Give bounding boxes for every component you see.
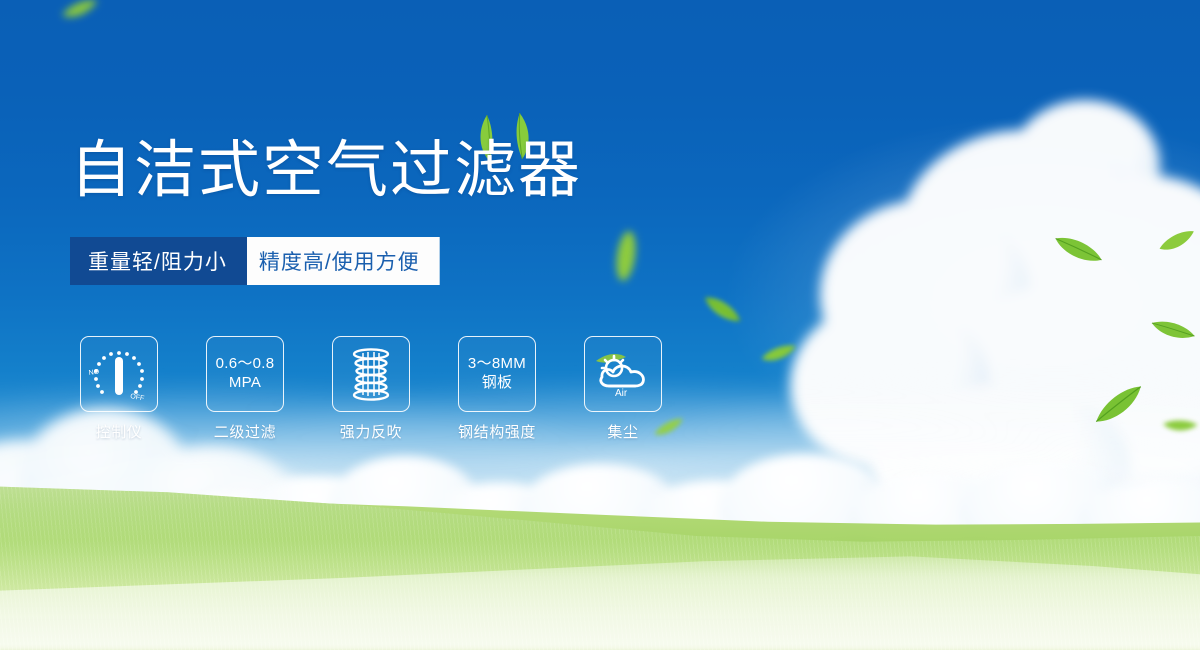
- page-title: 自洁式空气过滤器: [70, 140, 582, 202]
- banner-content: 自洁式空气过滤器 重量轻/阻力小 精度高/使用方便: [0, 0, 1200, 650]
- feature-label: 集尘: [607, 421, 638, 442]
- plate-thickness-text: 3～8MM: [468, 355, 526, 374]
- pressure-unit-text: MPA: [229, 374, 261, 393]
- product-banner: 自洁式空气过滤器 重量轻/阻力小 精度高/使用方便: [0, 0, 1200, 650]
- feature-label: 控制仪: [96, 421, 143, 442]
- feature-label: 钢结构强度: [458, 421, 536, 442]
- feature-label: 二级过滤: [214, 421, 276, 442]
- tagline-badge-primary: 重量轻/阻力小: [70, 237, 247, 285]
- feature-item-control-dial: NO OFF 控制仪: [80, 336, 158, 442]
- plate-material-text: 钢板: [482, 374, 513, 393]
- feature-icon-box: NO OFF: [80, 336, 158, 412]
- feature-item-pressure: 0.6～0.8 MPA 二级过滤: [206, 336, 284, 442]
- control-dial-icon: NO OFF: [88, 347, 150, 401]
- feature-label: 强力反吹: [340, 421, 402, 442]
- feature-icon-box: 3～8MM 钢板: [458, 336, 536, 412]
- cloud-air-icon: Air: [592, 351, 654, 397]
- feature-item-dust-collection: Air 集尘: [584, 336, 662, 442]
- feature-item-backblow: 强力反吹: [332, 336, 410, 442]
- feature-icon-box: [332, 336, 410, 412]
- pressure-range-text: 0.6～0.8: [216, 355, 275, 374]
- tagline-badge-secondary: 精度高/使用方便: [231, 237, 440, 285]
- feature-list: NO OFF 控制仪 0.6～0.8 MPA 二级过滤: [80, 336, 662, 442]
- feature-icon-box: Air: [584, 336, 662, 412]
- feature-item-steel-plate: 3～8MM 钢板 钢结构强度: [458, 336, 536, 442]
- svg-text:NO: NO: [88, 369, 100, 377]
- feature-icon-box: 0.6～0.8 MPA: [206, 336, 284, 412]
- tagline-badges: 重量轻/阻力小 精度高/使用方便: [70, 237, 440, 285]
- filter-cartridge-icon: [343, 346, 399, 402]
- air-text: Air: [615, 388, 628, 397]
- svg-text:OFF: OFF: [130, 393, 145, 401]
